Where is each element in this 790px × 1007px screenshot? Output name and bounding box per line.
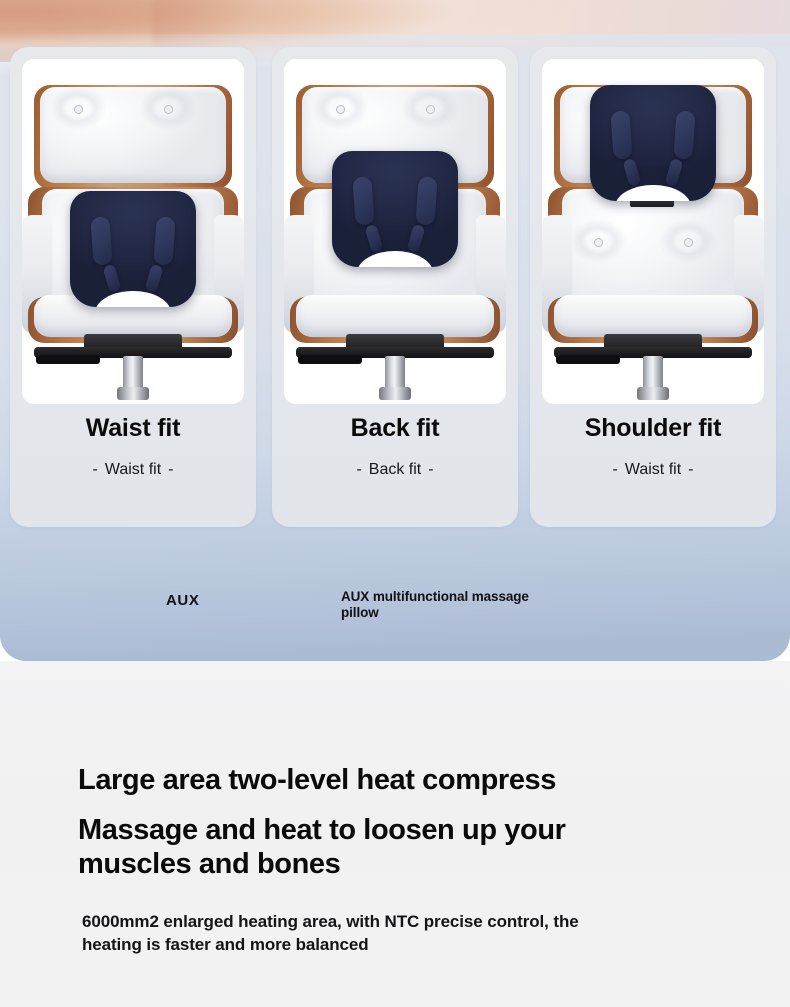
chair-pedestal-stem [123,356,143,390]
pillow-node-left [623,158,642,187]
chair-pedestal-foot [117,387,149,400]
tuft-button-right [164,105,173,114]
tuft-button-left [336,105,345,114]
pillow-node-right [145,264,164,293]
hero-section: Waist fit -Waist fit- [0,0,790,661]
fit-card-title: Back fit [272,414,518,443]
pillow-ridge-right [415,176,437,225]
pillow-ridge-right [153,216,175,265]
dash-left: - [349,461,368,478]
tuft-button-right [684,238,693,247]
dash-right: - [421,461,440,478]
feature-headline-secondary: Massage and heat to loosen up your muscl… [78,813,678,881]
feature-subcopy: 6000mm2 enlarged heating area, with NTC … [82,911,642,956]
product-photo-back [284,59,506,404]
lounge-chair-illustration [22,59,244,404]
pillow-node-left [103,264,122,293]
brand-logo: AUX [166,592,199,609]
pillow-ridge-left [352,176,374,225]
fit-card-title: Waist fit [10,414,256,443]
fit-card-subtitle: -Waist fit- [530,461,776,479]
product-photo-shoulder [542,59,764,404]
chair-pedestal-foot [379,387,411,400]
tuft-button-left [74,105,83,114]
chair-base-bar-secondary [298,355,362,364]
chair-seat-cushion [296,295,494,337]
massage-pillow [332,151,458,267]
pillow-ridge-left [90,216,112,265]
massage-pillow [70,191,196,307]
fit-card-subtitle-text: Waist fit [625,461,681,478]
tuft-button-left [594,238,603,247]
fit-card-back[interactable]: Back fit -Back fit- [272,47,518,527]
chair-pedestal-stem [643,356,663,390]
pillow-node-right [407,224,426,253]
massage-pillow [590,85,716,201]
dash-left: - [86,461,105,478]
fit-card-subtitle: -Waist fit- [10,461,256,479]
lounge-chair-illustration [284,59,506,404]
tuft-button-right [426,105,435,114]
chair-seat-cushion [554,295,752,337]
chair-pedestal-stem [385,356,405,390]
fit-card-subtitle-text: Waist fit [105,461,161,478]
pillow-ridge-right [673,110,695,159]
fit-card-title: Shoulder fit [530,414,776,443]
brand-description: AUX multifunctional massage pillow [341,589,561,621]
fit-card-waist[interactable]: Waist fit -Waist fit- [10,47,256,527]
product-photo-waist [22,59,244,404]
fit-card-subtitle-text: Back fit [369,461,421,478]
lounge-chair-illustration [542,59,764,404]
fit-cards-container: Waist fit -Waist fit- [0,0,790,661]
dash-right: - [161,461,180,478]
dash-right: - [681,461,700,478]
chair-base-bar-secondary [36,355,100,364]
pillow-ridge-left [610,110,632,159]
fit-card-shoulder[interactable]: Shoulder fit -Waist fit- [530,47,776,527]
feature-section: Large area two-level heat compress Massa… [0,661,790,1007]
chair-base-bar-secondary [556,355,620,364]
pillow-node-right [665,158,684,187]
fit-card-subtitle: -Back fit- [272,461,518,479]
feature-headline-primary: Large area two-level heat compress [78,764,556,797]
pillow-node-left [365,224,384,253]
dash-left: - [606,461,625,478]
chair-pedestal-foot [637,387,669,400]
